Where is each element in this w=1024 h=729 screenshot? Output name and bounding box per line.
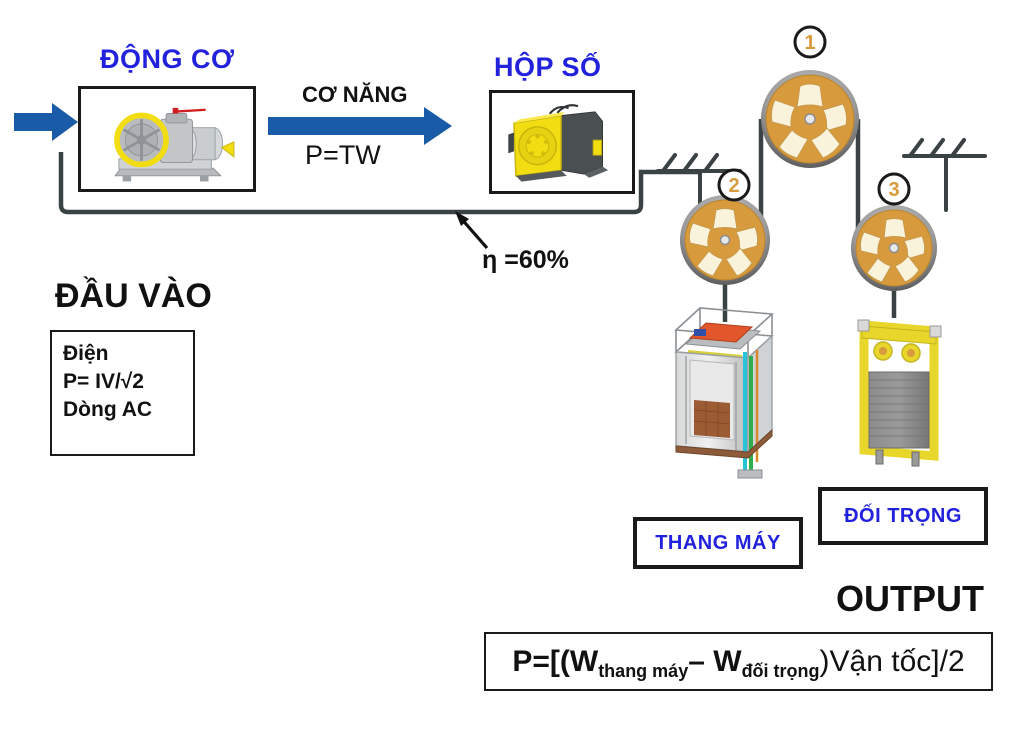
input-line-electric: Điện — [63, 340, 193, 368]
traction-machine-icon — [81, 89, 253, 189]
motor-title: ĐỘNG CƠ — [100, 44, 235, 75]
gearbox-image-box — [489, 90, 635, 194]
svg-text:2: 2 — [728, 175, 739, 197]
elevator-label: THANG MÁY — [655, 532, 781, 555]
rope-lines — [725, 119, 894, 322]
svg-text:3: 3 — [888, 179, 899, 201]
counterweight-label-box: ĐỐI TRỌNG — [818, 487, 988, 545]
svg-text:1: 1 — [804, 32, 815, 54]
input-heading: ĐẦU VÀO — [55, 277, 212, 316]
pulley-3-badge: 3 — [879, 174, 909, 204]
input-details-box: Điện P= IV/√2 Dòng AC — [50, 330, 195, 456]
elevator-car-illustration — [676, 308, 772, 478]
input-line-ac-current: Dòng AC — [63, 396, 193, 424]
motor-image-box — [78, 86, 256, 192]
gearbox-icon — [492, 93, 632, 191]
pulley-3 — [851, 205, 937, 291]
output-formula-part3: )Vận tốc]/2 — [820, 645, 965, 679]
efficiency-label: η =60% — [482, 246, 569, 275]
input-arrow-icon — [14, 103, 78, 141]
gearbox-title: HỘP SỐ — [494, 52, 602, 83]
output-formula-sub2: đối trọng — [742, 661, 820, 682]
output-heading: OUTPUT — [836, 578, 984, 620]
elevator-label-box: THANG MÁY — [633, 517, 803, 569]
elevator-power-flow-diagram: 1 2 — [0, 0, 1024, 729]
output-formula-part2: – W — [688, 645, 741, 679]
output-formula-part1: P=[(W — [512, 645, 598, 679]
pulley-1-badge: 1 — [795, 27, 825, 57]
ceiling-support-right — [904, 140, 985, 210]
mechanical-energy-label: CƠ NĂNG — [302, 82, 408, 108]
counterweight-illustration — [858, 320, 941, 466]
ceiling-support-left — [658, 155, 740, 216]
output-formula-box: P=[(Wthang máy – Wđối trọng )Vận tốc]/2 — [484, 632, 993, 691]
output-formula: P=[(Wthang máy – Wđối trọng )Vận tốc]/2 — [512, 645, 964, 679]
efficiency-pointer-arrow-icon — [455, 211, 487, 248]
output-formula-sub1: thang máy — [598, 661, 688, 682]
pulley-2 — [680, 195, 770, 285]
pulley-2-badge: 2 — [719, 170, 749, 200]
gearbox-to-pulley-line — [641, 172, 700, 196]
counterweight-label: ĐỐI TRỌNG — [844, 505, 962, 528]
input-line-power-formula: P= IV/√2 — [63, 368, 193, 396]
power-formula-label: P=TW — [305, 140, 381, 171]
pulley-1 — [761, 70, 859, 168]
